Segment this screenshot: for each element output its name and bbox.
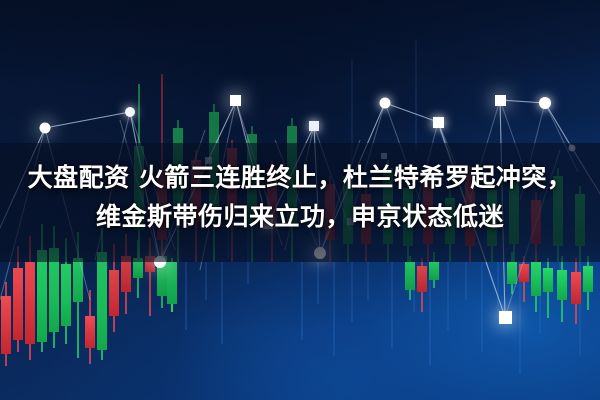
headline-line-2: 维金斯带伤归来立功，申京状态低迷 [14, 197, 586, 236]
headline-line-1: 大盘配资 火箭三连胜终止，杜兰特希罗起冲突， [14, 158, 586, 197]
news-banner: 大盘配资 火箭三连胜终止，杜兰特希罗起冲突， 维金斯带伤归来立功，申京状态低迷 [0, 0, 600, 400]
page-title: 大盘配资 火箭三连胜终止，杜兰特希罗起冲突， 维金斯带伤归来立功，申京状态低迷 [0, 158, 600, 236]
